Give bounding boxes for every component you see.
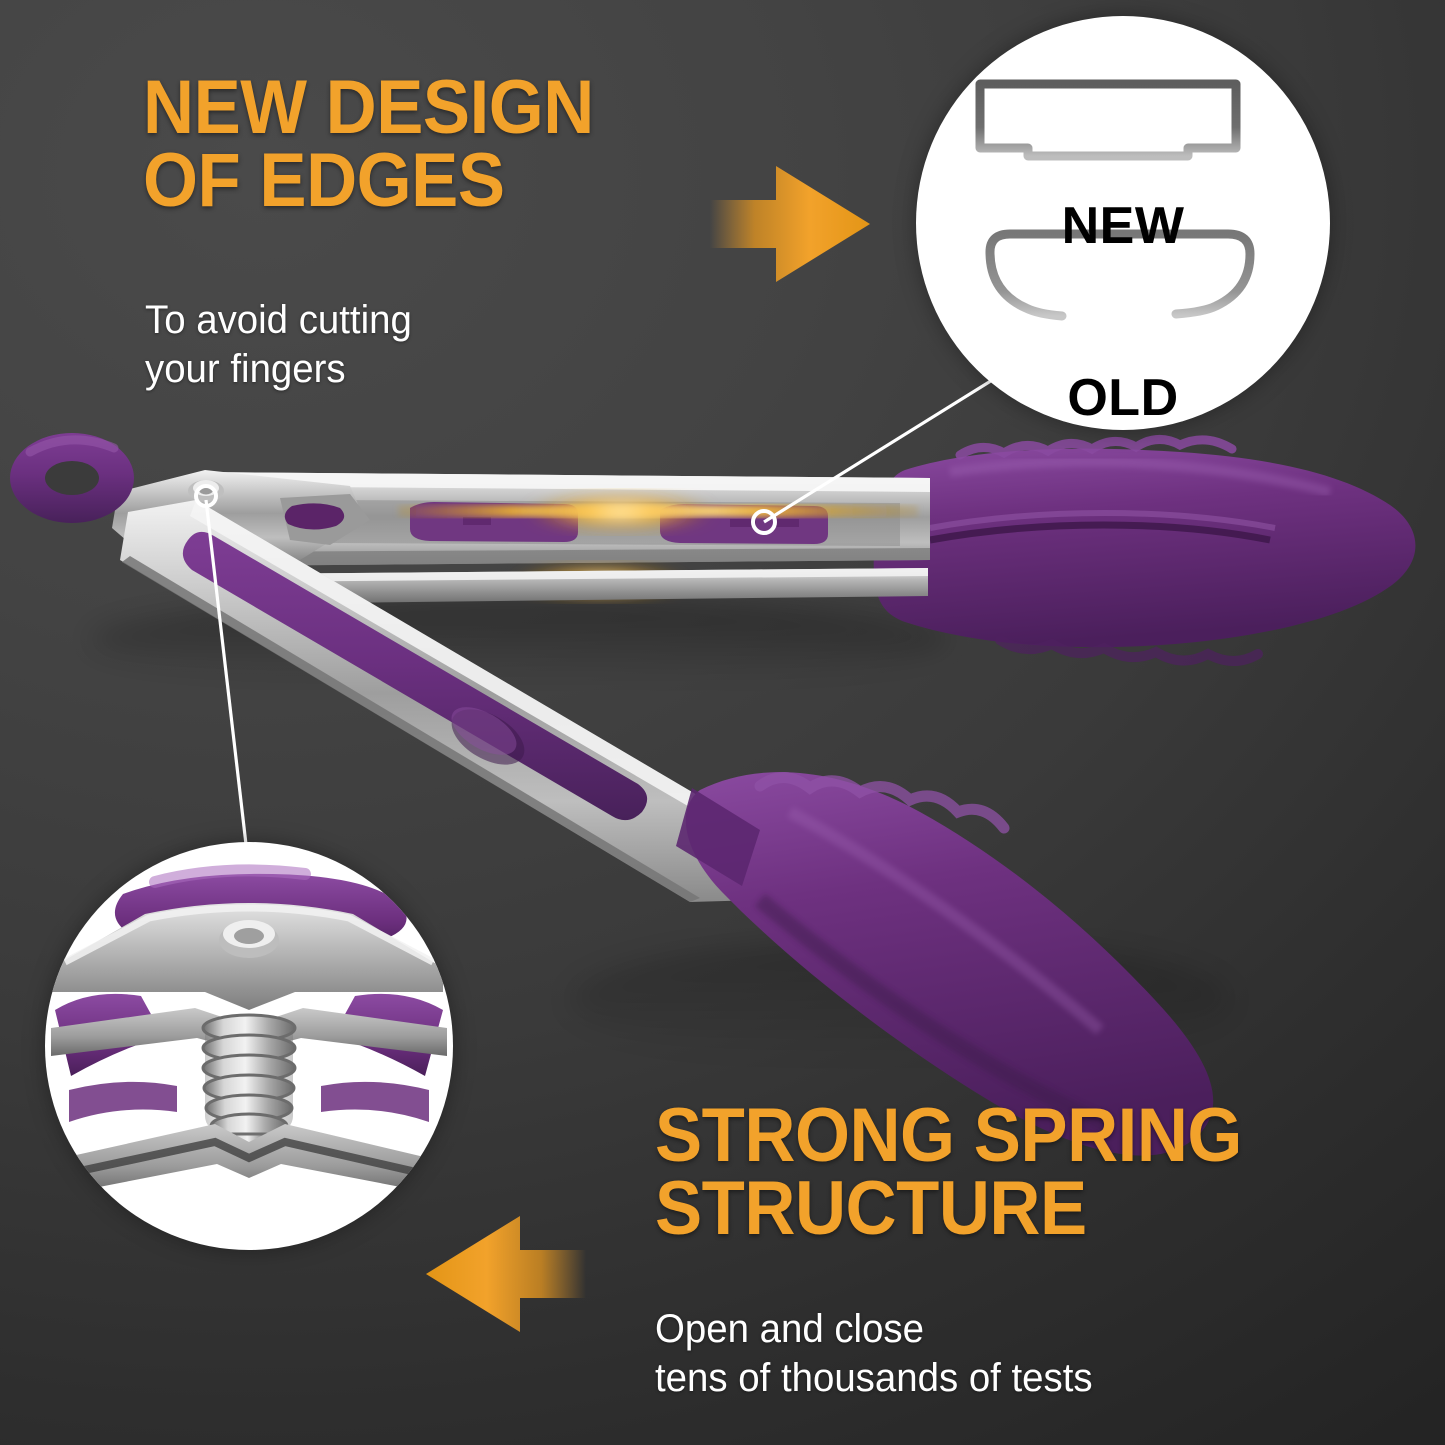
spring-mechanism-inset (45, 842, 453, 1250)
edge-profile-comparison-inset: NEW OLD (916, 16, 1330, 430)
hanging-loop (10, 433, 134, 523)
infographic-canvas: NEW OLD (0, 0, 1445, 1445)
tong-hinge-plate (112, 470, 370, 560)
tong-arm-upper-steel (118, 472, 930, 566)
old-profile-label: OLD (916, 368, 1330, 428)
subtext-avoid-cutting-fingers: To avoid cutting your fingers (145, 296, 412, 394)
spring-closeup-illustration (45, 842, 453, 1250)
new-edge-profile (980, 84, 1236, 156)
callout-leader-spring (196, 486, 252, 896)
new-profile-label: NEW (916, 196, 1330, 256)
arrow-right-icon (706, 154, 874, 294)
tong-arm-upper-rail (232, 568, 928, 604)
tong-head-upper (874, 439, 1416, 661)
headline-strong-spring-structure: STRONG SPRING STRUCTURE (655, 1100, 1242, 1246)
arrow-left-icon (418, 1204, 590, 1344)
subtext-open-and-close-tests: Open and close tens of thousands of test… (655, 1305, 1093, 1403)
edge-glow-highlight (398, 492, 918, 600)
headline-new-design-of-edges: NEW DESIGN OF EDGES (143, 72, 594, 218)
